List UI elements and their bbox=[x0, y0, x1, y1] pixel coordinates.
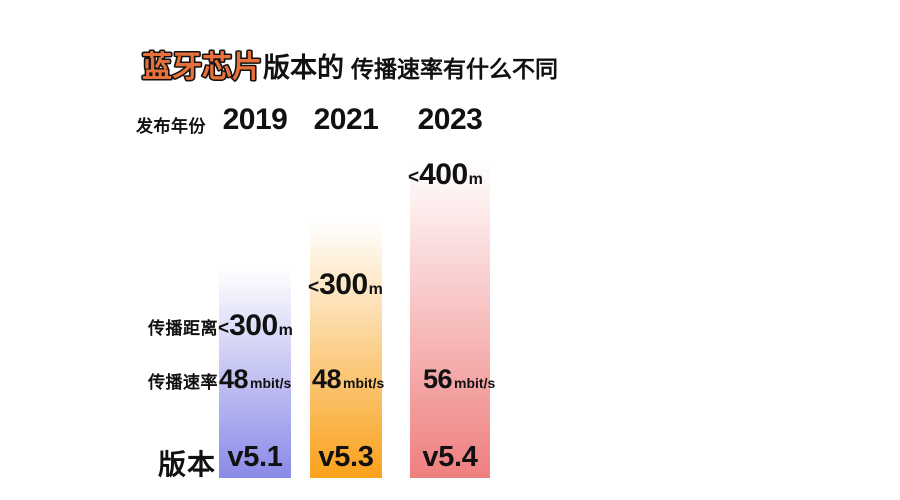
less-than-icon: < bbox=[218, 319, 229, 338]
distance-unit: m bbox=[369, 282, 383, 298]
rate-value-v5.3: 48mbit/s bbox=[312, 366, 384, 393]
bar-chart: <300m48mbit/sv5.1<300m48mbit/sv5.3<400m5… bbox=[0, 0, 900, 500]
less-than-icon: < bbox=[308, 278, 319, 297]
version-value-v5.4: v5.4 bbox=[410, 443, 490, 472]
rate-unit: mbit/s bbox=[454, 376, 495, 390]
version-text: v5.3 bbox=[318, 443, 373, 472]
rate-value-v5.4: 56mbit/s bbox=[423, 366, 495, 393]
version-label: 版本 bbox=[128, 443, 216, 483]
version-text: v5.4 bbox=[422, 443, 477, 472]
distance-number: 300 bbox=[319, 270, 368, 300]
rate-number: 48 bbox=[219, 366, 248, 393]
rate-unit: mbit/s bbox=[250, 376, 291, 390]
distance-number: 400 bbox=[419, 160, 468, 190]
distance-unit: m bbox=[469, 172, 483, 188]
version-text: v5.1 bbox=[227, 443, 282, 472]
rate-unit: mbit/s bbox=[343, 376, 384, 390]
less-than-icon: < bbox=[408, 168, 419, 187]
rate-number: 48 bbox=[312, 366, 341, 393]
distance-value-v5.1: <300m bbox=[218, 311, 293, 341]
version-value-v5.1: v5.1 bbox=[219, 443, 291, 472]
transmission-rate-label: 传播速率 bbox=[128, 368, 218, 393]
rate-value-v5.1: 48mbit/s bbox=[219, 366, 291, 393]
distance-value-v5.4: <400m bbox=[408, 160, 483, 190]
rate-number: 56 bbox=[423, 366, 452, 393]
distance-unit: m bbox=[279, 323, 293, 339]
transmission-distance-label: 传播距离 bbox=[128, 314, 218, 339]
distance-number: 300 bbox=[229, 311, 278, 341]
distance-value-v5.3: <300m bbox=[308, 270, 383, 300]
bar-v5.3 bbox=[310, 205, 382, 478]
version-value-v5.3: v5.3 bbox=[310, 443, 382, 472]
